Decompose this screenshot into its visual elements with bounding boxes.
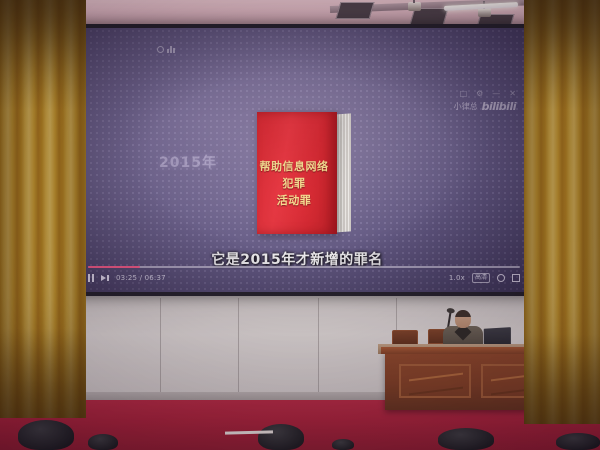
playback-speed-button[interactable]: 1.0x (449, 274, 465, 282)
audience-head (332, 439, 354, 450)
stage-spotlight (478, 8, 491, 17)
audience-head (556, 433, 600, 450)
stage-curtain-left (0, 0, 86, 418)
progress-bar[interactable] (88, 266, 520, 268)
podium-panel (399, 364, 471, 398)
audience-head (438, 428, 494, 450)
timecode-label: 03:25 / 06:37 (116, 274, 166, 282)
chair (392, 330, 418, 345)
curtain-shading (524, 334, 600, 424)
curtain-shading (0, 0, 86, 110)
gear-icon[interactable] (497, 274, 505, 282)
curtain-shading (524, 0, 600, 110)
audience-head (18, 420, 74, 450)
led-screen-frame: 2015年 帮助信息网络犯罪 活动罪 它是2015年才新增的罪名 (60, 24, 534, 296)
video-player-screenshot: 2015年 帮助信息网络犯罪 活动罪 它是2015年才新增的罪名 (0, 0, 600, 450)
speaker-head (455, 310, 471, 328)
next-button[interactable] (101, 274, 109, 282)
ceiling-recessed-light (336, 2, 375, 19)
curtain-shading (0, 328, 86, 418)
screen-vignette (64, 28, 530, 292)
audience-head (88, 434, 118, 450)
progress-bar-fill (88, 266, 140, 268)
stage-spotlight (408, 2, 421, 11)
led-screen: 2015年 帮助信息网络犯罪 活动罪 它是2015年才新增的罪名 (64, 28, 530, 292)
audience-head (258, 424, 304, 450)
stage-curtain-right (524, 0, 600, 424)
pause-button[interactable] (88, 274, 94, 282)
fullscreen-icon[interactable] (512, 274, 520, 282)
quality-button[interactable]: 高清 (472, 273, 490, 283)
